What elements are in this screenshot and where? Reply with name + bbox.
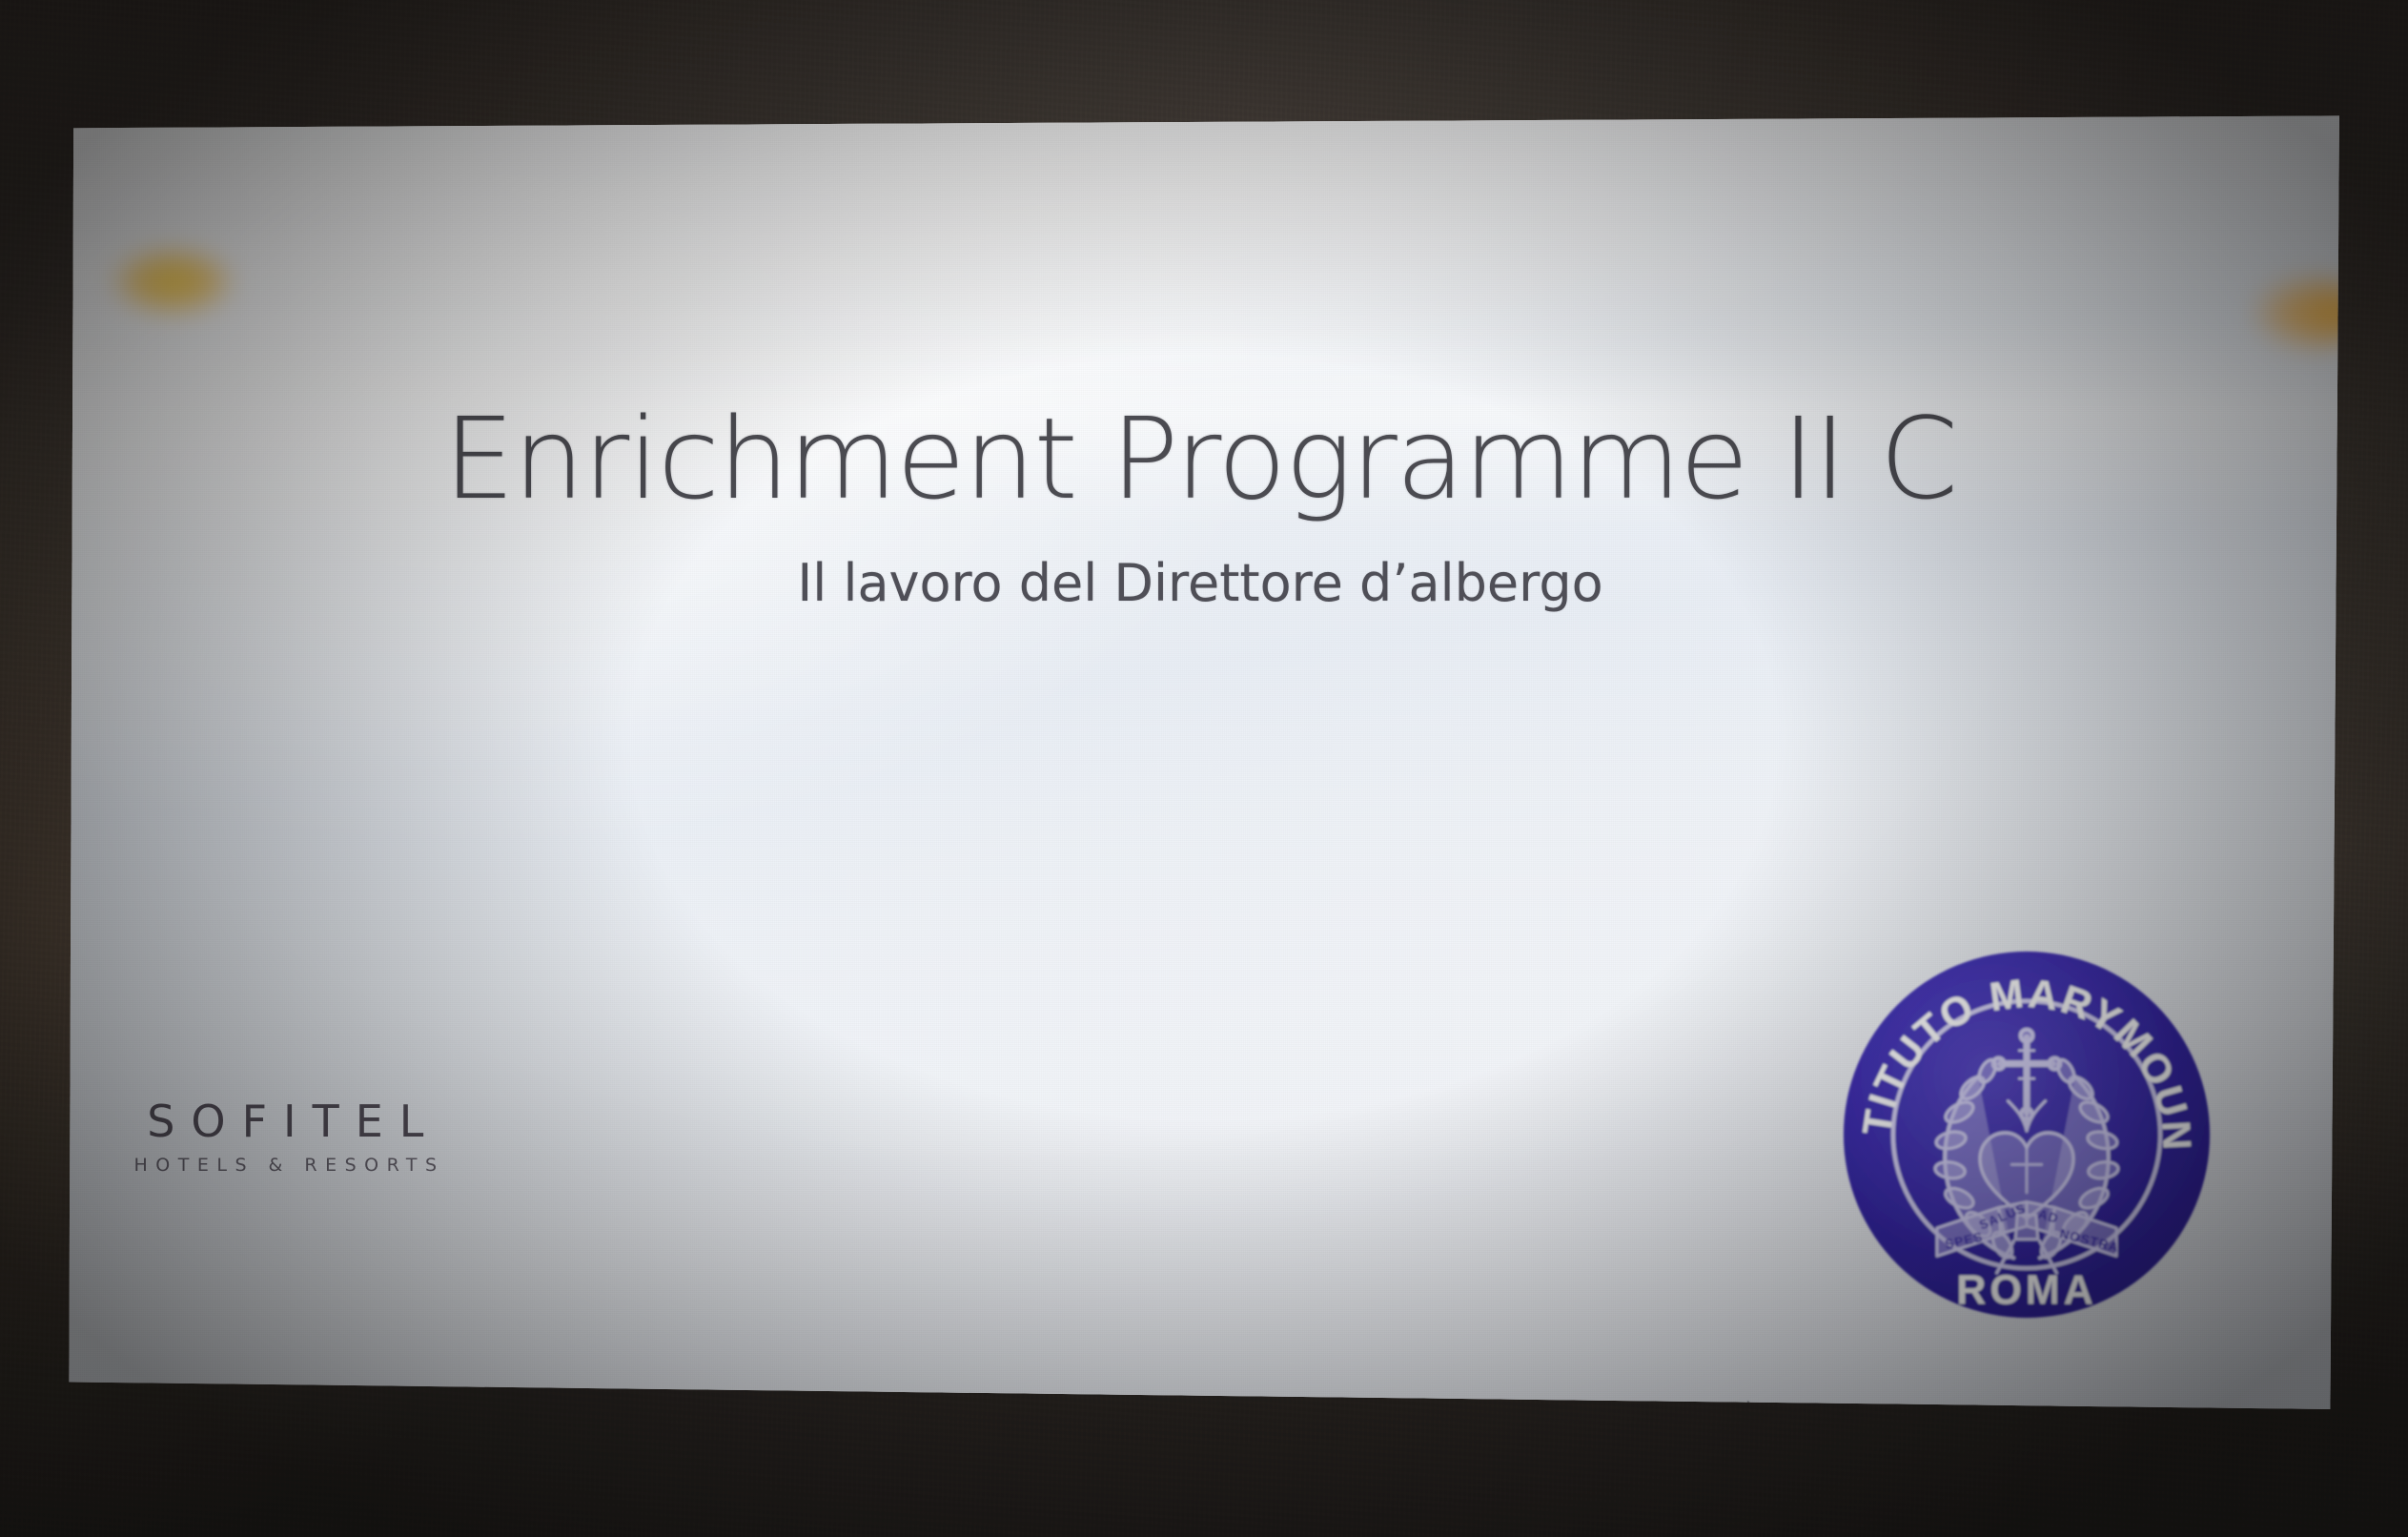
projection-screen: Enrichment Programme II C Il lavoro del … — [61, 113, 2339, 1409]
sofitel-tagline: HOTELS & RESORTS — [126, 1157, 445, 1175]
slide-title: Enrichment Programme II C — [61, 399, 2339, 520]
marymount-seal-logo: ISTITUTO MARYMOUNT ROMA — [1840, 948, 2214, 1322]
projected-slide-photo: Enrichment Programme II C Il lavoro del … — [0, 0, 2408, 1537]
sofitel-wordmark: SOFITEL — [126, 1099, 445, 1143]
slide-content: Enrichment Programme II C Il lavoro del … — [61, 113, 2339, 1409]
seal-bottom-text: ROMA — [1956, 1267, 2096, 1313]
slide-subtitle: Il lavoro del Direttore d’albergo — [61, 553, 2339, 615]
clipped-footer-text: …… — [93, 1400, 162, 1409]
mouse-cursor-icon — [1745, 1400, 1773, 1409]
sofitel-logo: SOFITEL HOTELS & RESORTS — [126, 1099, 445, 1175]
